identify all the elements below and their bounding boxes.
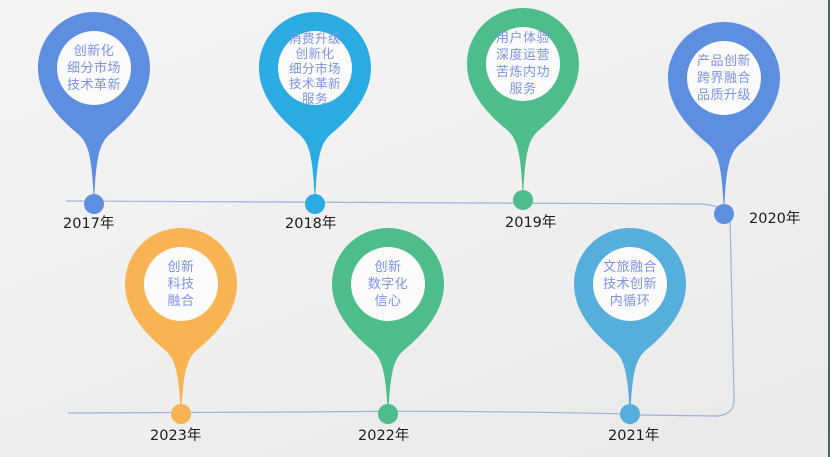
timeline-infographic: 创新化细分市场技术革新2017年消费升级创新化细分市场技术革新服务2018年用户… bbox=[0, 0, 830, 457]
pin-label-2023: 创新科技融合 bbox=[125, 228, 237, 340]
pin-label-line: 信心 bbox=[374, 293, 401, 310]
milestone-pin-2023[interactable]: 创新科技融合 bbox=[125, 228, 237, 420]
pin-label-line: 细分市场 bbox=[67, 60, 121, 77]
pin-label-line: 内循环 bbox=[610, 293, 651, 310]
pin-label-2020: 产品创新跨界融合品质升级 bbox=[668, 22, 780, 134]
pin-label-line: 跨界融合 bbox=[697, 70, 751, 87]
pin-label-2017: 创新化细分市场技术革新 bbox=[38, 12, 150, 124]
pin-label-line: 细分市场 bbox=[289, 61, 341, 76]
pin-label-2019: 用户体验深度运营苦炼内功服务 bbox=[467, 8, 579, 120]
pin-label-line: 深度运营 bbox=[496, 47, 550, 64]
pin-label-line: 科技 bbox=[167, 276, 194, 293]
pin-label-line: 创新化 bbox=[74, 43, 115, 60]
pin-label-line: 消费升级 bbox=[289, 31, 341, 46]
pin-anchor-dot-2017[interactable] bbox=[84, 194, 104, 214]
year-label-2023: 2023年 bbox=[150, 427, 201, 445]
year-label-2021: 2021年 bbox=[608, 427, 659, 445]
pin-label-line: 服务 bbox=[509, 81, 536, 98]
pin-anchor-dot-2018[interactable] bbox=[305, 194, 325, 214]
milestone-pin-2018[interactable]: 消费升级创新化细分市场技术革新服务 bbox=[259, 12, 371, 204]
pin-anchor-dot-2019[interactable] bbox=[513, 190, 533, 210]
year-label-2018: 2018年 bbox=[285, 215, 336, 233]
pin-label-line: 文旅融合 bbox=[603, 259, 657, 276]
pin-label-2018: 消费升级创新化细分市场技术革新服务 bbox=[259, 12, 371, 124]
year-label-2019: 2019年 bbox=[505, 214, 556, 232]
pin-label-line: 创新 bbox=[374, 259, 401, 276]
pin-label-line: 技术革新 bbox=[67, 77, 121, 94]
pin-label-line: 用户体验 bbox=[496, 30, 550, 47]
milestone-pin-2022[interactable]: 创新数字化信心 bbox=[332, 228, 444, 420]
pin-label-line: 服务 bbox=[302, 91, 328, 106]
year-label-2017: 2017年 bbox=[63, 215, 114, 233]
pin-anchor-dot-2023[interactable] bbox=[171, 404, 191, 424]
pin-anchor-dot-2020[interactable] bbox=[714, 204, 734, 224]
milestone-pin-2019[interactable]: 用户体验深度运营苦炼内功服务 bbox=[467, 8, 579, 200]
milestone-pin-2021[interactable]: 文旅融合技术创新内循环 bbox=[574, 228, 686, 420]
pin-label-line: 融合 bbox=[167, 293, 194, 310]
pin-label-line: 技术革新 bbox=[289, 76, 341, 91]
pin-label-line: 品质升级 bbox=[697, 87, 751, 104]
year-label-2022: 2022年 bbox=[358, 427, 409, 445]
pin-label-line: 产品创新 bbox=[697, 53, 751, 70]
pin-label-line: 创新 bbox=[167, 259, 194, 276]
milestone-pin-2020[interactable]: 产品创新跨界融合品质升级 bbox=[668, 22, 780, 214]
pin-label-line: 数字化 bbox=[368, 276, 409, 293]
milestone-pin-2017[interactable]: 创新化细分市场技术革新 bbox=[38, 12, 150, 204]
year-label-2020: 2020年 bbox=[749, 210, 800, 228]
pin-anchor-dot-2022[interactable] bbox=[378, 404, 398, 424]
pin-label-2021: 文旅融合技术创新内循环 bbox=[574, 228, 686, 340]
pin-anchor-dot-2021[interactable] bbox=[620, 404, 640, 424]
pin-label-line: 苦炼内功 bbox=[496, 64, 550, 81]
pin-label-line: 技术创新 bbox=[603, 276, 657, 293]
pin-label-line: 创新化 bbox=[295, 46, 334, 61]
pin-label-2022: 创新数字化信心 bbox=[332, 228, 444, 340]
